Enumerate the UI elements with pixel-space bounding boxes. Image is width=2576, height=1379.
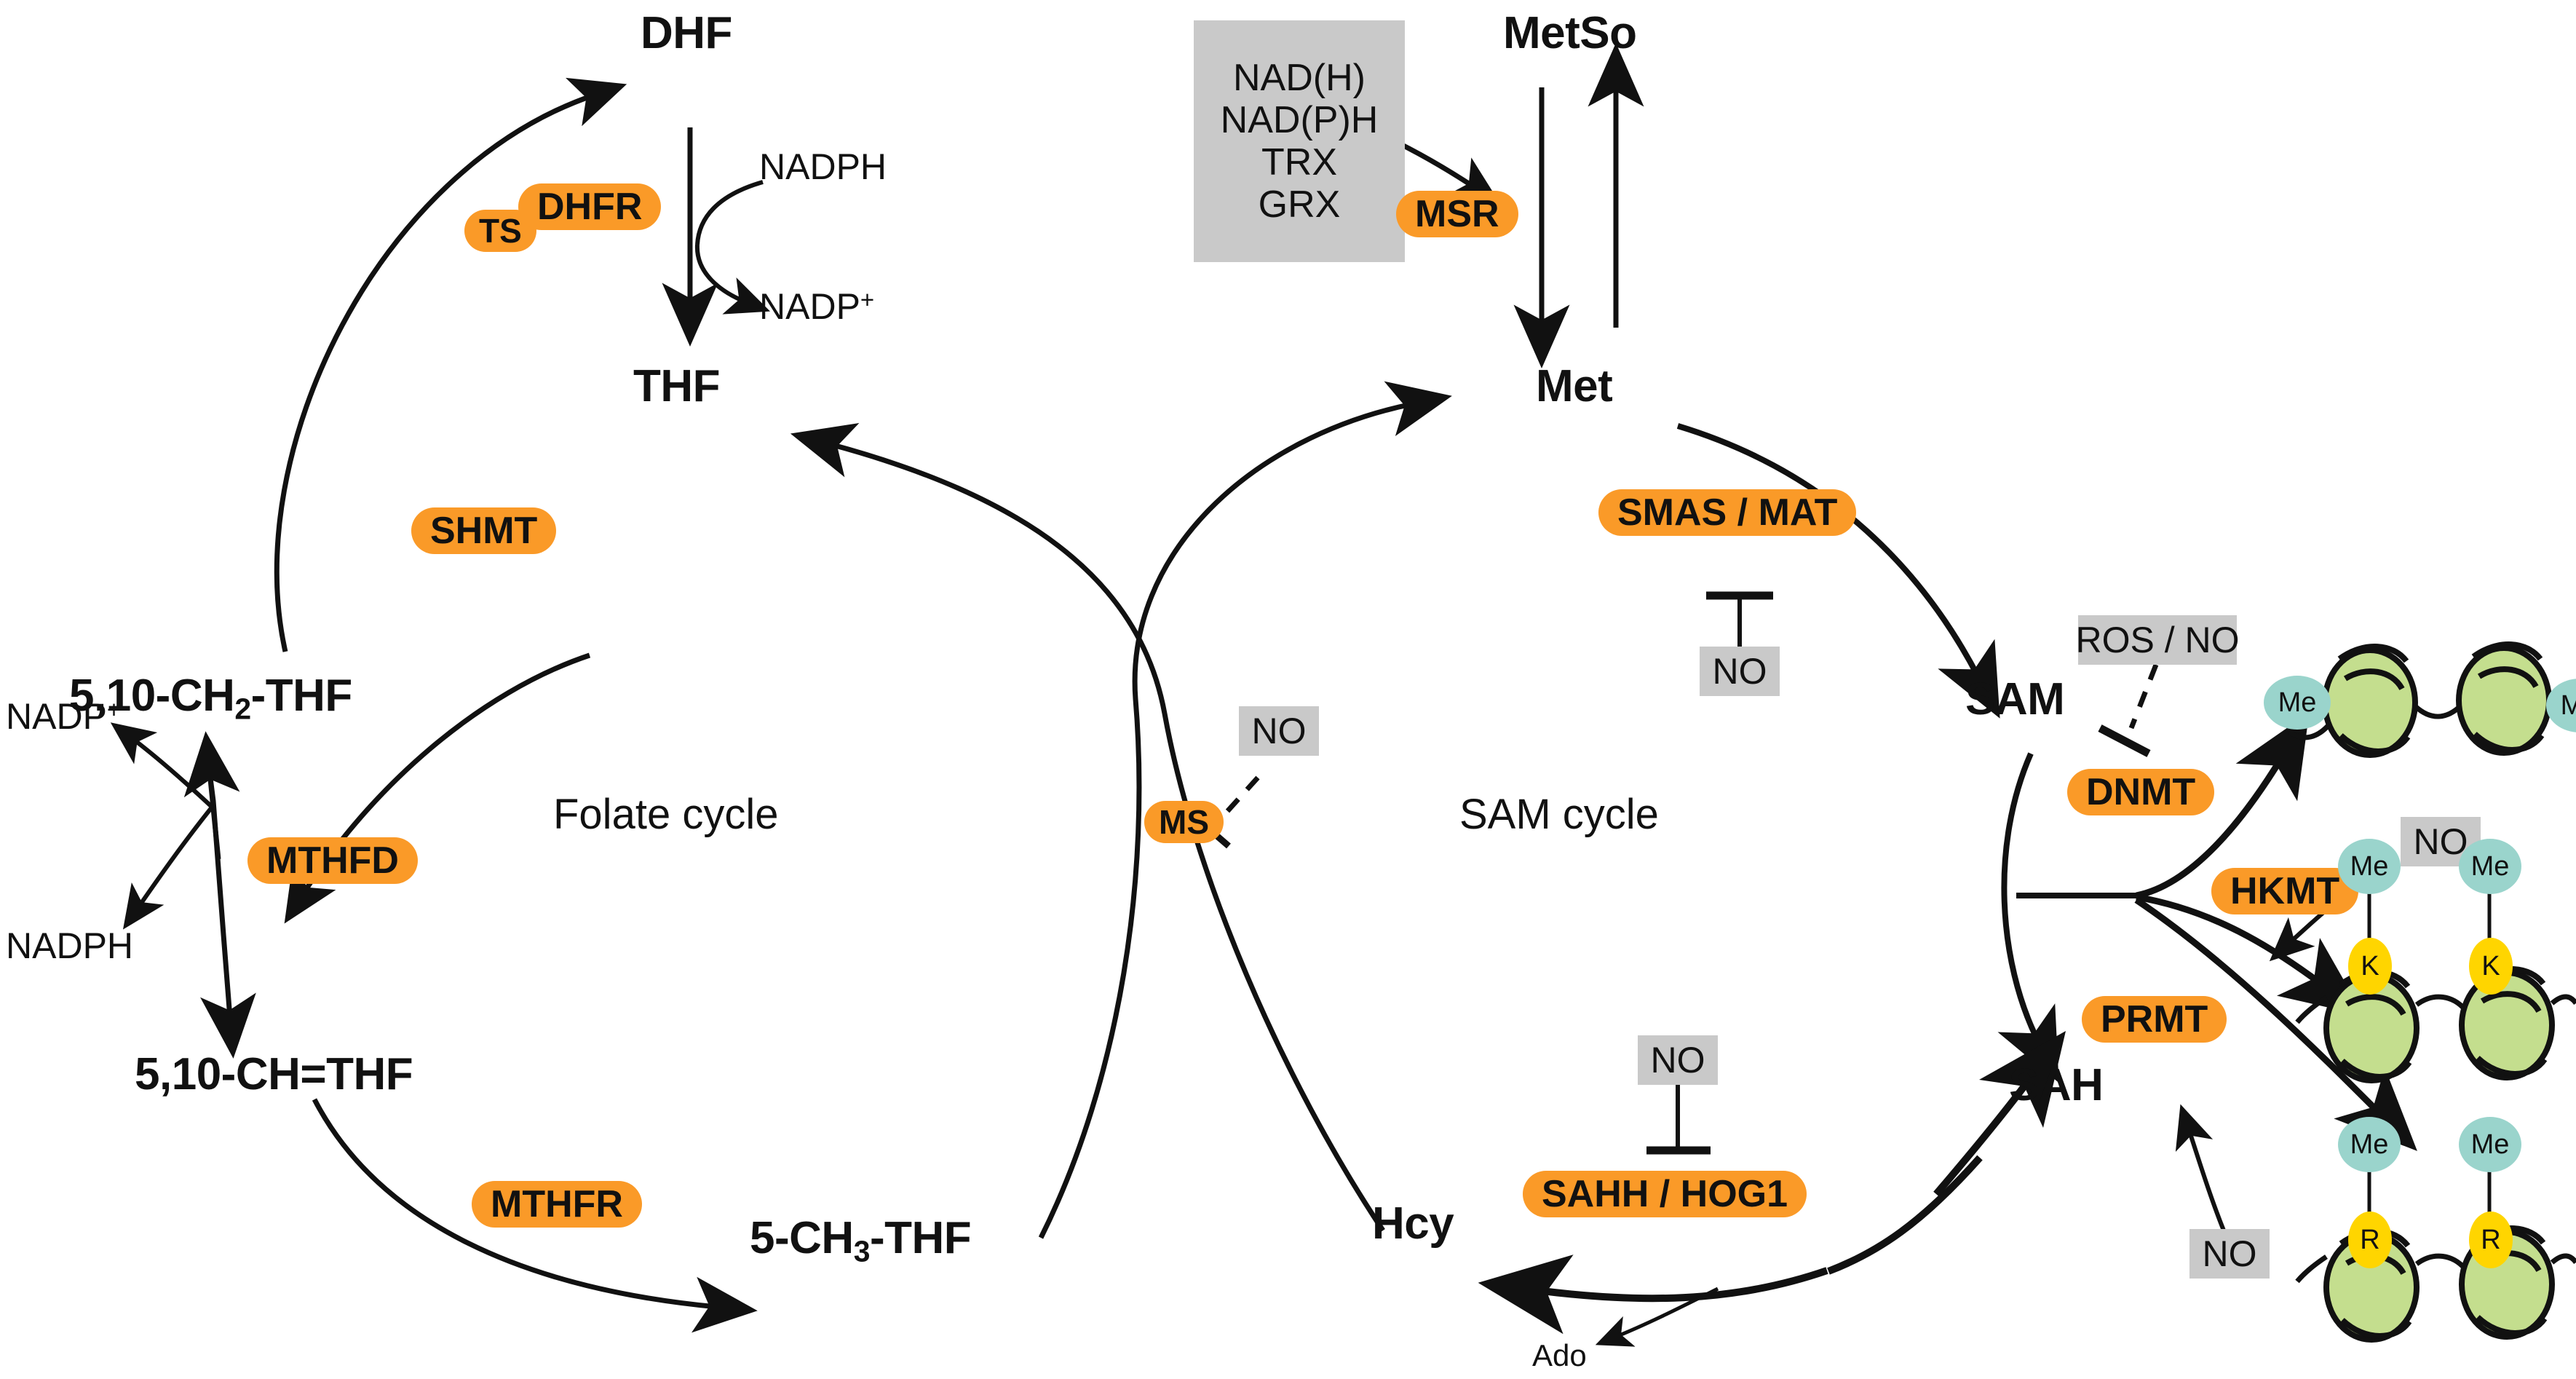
cofactor-nadp-plus-left: NADP+	[6, 695, 121, 738]
enzyme-mthfr[interactable]: MTHFR	[472, 1181, 642, 1228]
residue-badge-lysine-right: K	[2469, 938, 2513, 995]
methyl-badge-dna-right: Me	[2546, 679, 2576, 732]
residue-badge-arginine-left: R	[2348, 1212, 2392, 1268]
metabolite-thf: THF	[633, 360, 720, 412]
cofactor-nadph-left: NADPH	[6, 925, 133, 967]
reductant-grx: GRX	[1259, 183, 1341, 226]
reductant-nadph: NAD(P)H	[1221, 99, 1379, 141]
residue-badge-arginine-right: R	[2469, 1212, 2513, 1268]
metabolite-metso: MetSo	[1503, 7, 1637, 59]
cofactor-nadp-top-text: NADP	[759, 286, 860, 327]
modifier-no-prmt: NO	[2189, 1229, 2270, 1279]
metabolite-ch3-thf-suffix: -THF	[870, 1213, 971, 1263]
residue-badge-lysine-left: K	[2348, 938, 2392, 995]
enzyme-smas-mat[interactable]: SMAS / MAT	[1598, 489, 1856, 536]
metabolite-ch3-thf-prefix: 5-CH	[750, 1213, 854, 1263]
metabolite-sam: SAM	[1965, 673, 2064, 725]
methyl-badge-arginine-left: Me	[2338, 1117, 2401, 1172]
cofactor-nadp-top-charge: +	[860, 286, 874, 313]
metabolite-hcy: Hcy	[1372, 1198, 1454, 1249]
nucleosome-row-arginine-methylation	[2297, 1171, 2576, 1340]
metabolite-ch3-thf-subscript: 3	[854, 1234, 870, 1268]
modifier-no-smas-mat: NO	[1700, 647, 1780, 696]
cofactor-nadph-top: NADPH	[759, 146, 887, 188]
enzyme-dhfr[interactable]: DHFR	[518, 183, 661, 230]
cofactor-nadp-left-charge: +	[107, 696, 121, 723]
enzyme-shmt[interactable]: SHMT	[411, 507, 556, 554]
methyl-badge-lysine-left: Me	[2338, 839, 2401, 894]
cofactor-nadp-left-text: NADP	[6, 696, 107, 737]
modifier-no-ms: NO	[1239, 706, 1319, 756]
reductant-box: NAD(H) NAD(P)H TRX GRX	[1194, 20, 1405, 262]
metabolite-dhf: DHF	[641, 7, 732, 59]
enzyme-dnmt[interactable]: DNMT	[2067, 769, 2214, 815]
modifier-no-sahh-hog1: NO	[1638, 1035, 1718, 1085]
enzyme-sahh-hog1[interactable]: SAHH / HOG1	[1523, 1171, 1807, 1217]
modifier-ros-no-dnmt: ROS / NO	[2078, 615, 2237, 665]
sam-cycle-title: SAM cycle	[1459, 790, 1659, 839]
reductant-nadh: NAD(H)	[1233, 57, 1366, 99]
methyl-badge-dna-left: Me	[2264, 676, 2331, 730]
pathway-diagram-canvas: DHF THF 5,10-CH2-THF 5,10-CH=THF 5-CH3-T…	[0, 0, 2576, 1379]
cofactor-nadp-plus-top: NADP+	[759, 285, 874, 328]
methyl-badge-lysine-right: Me	[2459, 839, 2521, 894]
metabolite-ch-thf: 5,10-CH=THF	[135, 1048, 413, 1100]
enzyme-msr[interactable]: MSR	[1396, 191, 1518, 237]
methyl-badge-arginine-right: Me	[2459, 1117, 2521, 1172]
metabolite-ado: Ado	[1532, 1338, 1587, 1373]
enzyme-prmt[interactable]: PRMT	[2082, 996, 2227, 1043]
folate-cycle-title: Folate cycle	[553, 790, 778, 839]
enzyme-mthfd[interactable]: MTHFD	[247, 837, 418, 884]
nucleosome-row-lysine-methylation	[2297, 892, 2576, 1080]
metabolite-sah: SAH	[2009, 1059, 2103, 1111]
metabolite-ch3-thf: 5-CH3-THF	[750, 1212, 971, 1268]
metabolite-met: Met	[1536, 360, 1612, 412]
metabolite-ch2-thf-subscript: 2	[234, 692, 250, 725]
enzyme-ms[interactable]: MS	[1144, 801, 1224, 843]
metabolite-ch2-thf-suffix: -THF	[251, 671, 352, 721]
enzyme-hkmt[interactable]: HKMT	[2211, 868, 2358, 914]
nucleosome-row-dna-methylation	[2289, 644, 2576, 755]
reductant-trx: TRX	[1261, 141, 1337, 183]
